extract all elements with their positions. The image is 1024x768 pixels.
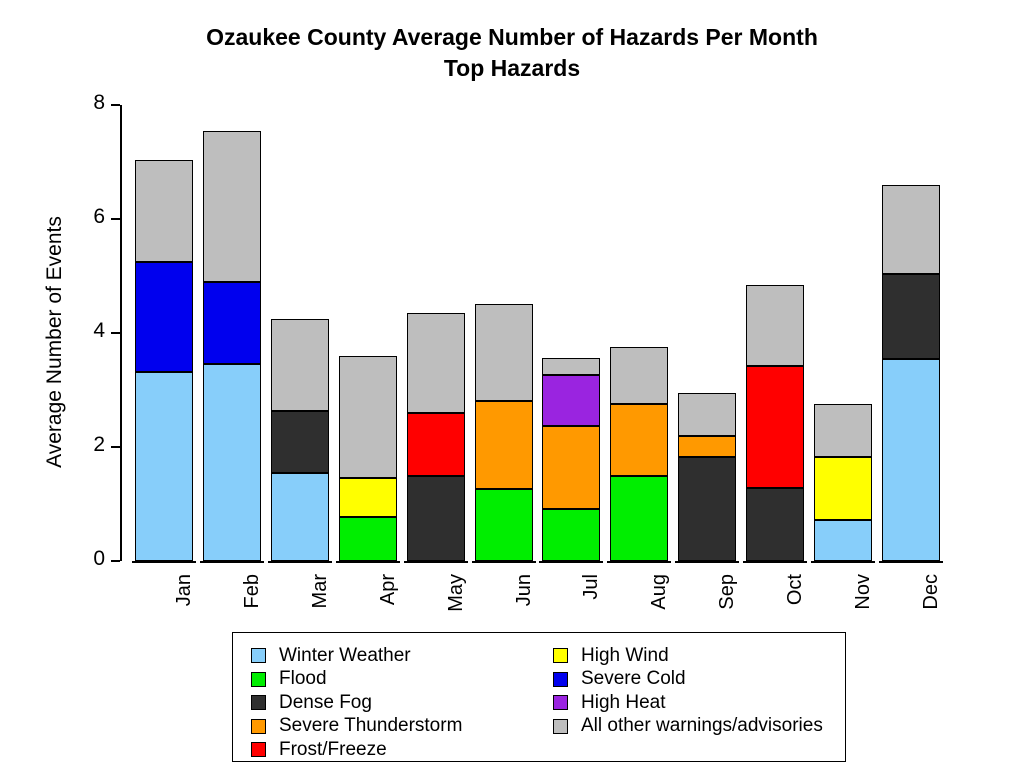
legend-item[interactable]: All other warnings/advisories xyxy=(553,715,823,739)
bar-segment[interactable] xyxy=(135,160,193,263)
bar-segment[interactable] xyxy=(882,185,940,274)
legend-swatch-icon xyxy=(553,719,568,734)
bar-sep[interactable] xyxy=(678,393,736,561)
x-axis-segment xyxy=(268,561,332,563)
legend-label: Frost/Freeze xyxy=(279,740,387,760)
chart-title: Ozaukee County Average Number of Hazards… xyxy=(0,22,1024,84)
legend-item[interactable]: Severe Cold xyxy=(553,668,823,692)
y-axis-tick-label: 2 xyxy=(93,434,105,456)
bar-segment[interactable] xyxy=(746,285,804,366)
bar-segment[interactable] xyxy=(339,517,397,561)
y-axis-tick-label: 8 xyxy=(93,92,105,114)
legend-item[interactable]: High Wind xyxy=(553,644,823,668)
bar-mar[interactable] xyxy=(271,319,329,561)
y-axis-tick: 2 xyxy=(111,446,120,448)
x-axis-segment xyxy=(675,561,739,563)
legend-swatch-icon xyxy=(553,672,568,687)
x-axis-tick-label: Feb xyxy=(241,574,264,608)
legend-item[interactable]: Winter Weather xyxy=(251,644,462,668)
x-axis-tick-label: Oct xyxy=(784,574,807,605)
chart-title-line1: Ozaukee County Average Number of Hazards… xyxy=(206,24,818,50)
bar-segment[interactable] xyxy=(407,313,465,413)
bar-segment[interactable] xyxy=(746,366,804,489)
chart-root: Ozaukee County Average Number of Hazards… xyxy=(0,0,1024,768)
x-axis-tick-label: Mar xyxy=(309,574,332,608)
legend-column-1: Winter WeatherFloodDense FogSevere Thund… xyxy=(251,644,462,762)
plot-area: 02468 JanFebMarAprMayJunJulAugSepOctNovD… xyxy=(120,100,950,566)
y-axis-tick: 8 xyxy=(111,104,120,106)
bar-segment[interactable] xyxy=(135,262,193,371)
x-axis-segment xyxy=(132,561,196,563)
bar-segment[interactable] xyxy=(271,473,329,561)
y-axis-title: Average Number of Events xyxy=(43,112,67,572)
legend-label: High Wind xyxy=(581,646,669,666)
legend-item[interactable]: Severe Thunderstorm xyxy=(251,715,462,739)
y-axis-tick: 6 xyxy=(111,218,120,220)
bar-aug[interactable] xyxy=(610,347,668,561)
bar-segment[interactable] xyxy=(339,356,397,479)
x-axis-tick-label: Aug xyxy=(648,574,671,610)
bar-segment[interactable] xyxy=(203,131,261,282)
bar-segment[interactable] xyxy=(475,401,533,489)
bar-segment[interactable] xyxy=(610,347,668,405)
bar-segment[interactable] xyxy=(203,364,261,561)
bar-segment[interactable] xyxy=(271,411,329,473)
bar-segment[interactable] xyxy=(475,304,533,401)
legend-label: Dense Fog xyxy=(279,693,372,713)
y-axis-tick-label: 0 xyxy=(93,548,105,570)
x-axis-tick-label: May xyxy=(445,574,468,612)
bar-segment[interactable] xyxy=(407,476,465,562)
bar-segment[interactable] xyxy=(542,375,600,426)
bar-segment[interactable] xyxy=(610,404,668,476)
legend-label: Severe Cold xyxy=(581,669,686,689)
legend-swatch-icon xyxy=(251,742,266,757)
bar-oct[interactable] xyxy=(746,285,804,561)
bar-segment[interactable] xyxy=(542,509,600,561)
bar-segment[interactable] xyxy=(407,413,465,476)
bar-segment[interactable] xyxy=(678,436,736,457)
bar-segment[interactable] xyxy=(610,476,668,561)
legend: Winter WeatherFloodDense FogSevere Thund… xyxy=(232,632,846,762)
x-axis-segment xyxy=(200,561,264,563)
bar-segment[interactable] xyxy=(814,457,872,520)
bar-segment[interactable] xyxy=(542,426,600,509)
legend-swatch-icon xyxy=(251,672,266,687)
bar-segment[interactable] xyxy=(746,488,804,561)
legend-swatch-icon xyxy=(251,648,266,663)
y-axis-line xyxy=(120,105,122,561)
legend-label: Winter Weather xyxy=(279,646,411,666)
legend-swatch-icon xyxy=(553,695,568,710)
x-axis-tick-label: Jul xyxy=(580,574,603,600)
legend-swatch-icon xyxy=(553,648,568,663)
bar-dec[interactable] xyxy=(882,185,940,561)
bar-may[interactable] xyxy=(407,313,465,561)
y-axis-tick-label: 6 xyxy=(93,206,105,228)
legend-swatch-icon xyxy=(251,695,266,710)
x-axis-segment xyxy=(539,561,603,563)
x-axis-segment xyxy=(743,561,807,563)
bar-segment[interactable] xyxy=(542,358,600,375)
bar-segment[interactable] xyxy=(475,489,533,561)
legend-label: High Heat xyxy=(581,693,666,713)
bar-segment[interactable] xyxy=(882,274,940,359)
x-axis-tick-label: Jan xyxy=(173,574,196,606)
legend-label: Severe Thunderstorm xyxy=(279,716,462,736)
bar-segment[interactable] xyxy=(678,393,736,436)
x-axis-tick-label: Apr xyxy=(377,574,400,605)
bar-segment[interactable] xyxy=(339,478,397,517)
legend-label: Flood xyxy=(279,669,327,689)
legend-swatch-icon xyxy=(251,719,266,734)
legend-item[interactable]: Frost/Freeze xyxy=(251,738,462,762)
bar-segment[interactable] xyxy=(678,457,736,561)
bar-jun[interactable] xyxy=(475,304,533,561)
x-axis-tick-label: Dec xyxy=(920,574,943,610)
x-axis-segment xyxy=(607,561,671,563)
bar-segment[interactable] xyxy=(882,359,940,561)
x-axis-segment xyxy=(879,561,943,563)
x-axis-segment xyxy=(336,561,400,563)
bar-feb[interactable] xyxy=(203,131,261,561)
x-axis-segment xyxy=(472,561,536,563)
chart-title-line2: Top Hazards xyxy=(0,53,1024,84)
x-axis-segment xyxy=(811,561,875,563)
bar-segment[interactable] xyxy=(814,520,872,561)
legend-column-2: High WindSevere ColdHigh HeatAll other w… xyxy=(553,644,823,738)
y-axis-tick-label: 4 xyxy=(93,320,105,342)
bar-jul[interactable] xyxy=(542,358,600,561)
x-axis-segment xyxy=(404,561,468,563)
x-axis-tick-label: Jun xyxy=(513,574,536,606)
x-axis-tick-label: Sep xyxy=(716,574,739,610)
bar-segment[interactable] xyxy=(271,319,329,411)
y-axis-tick: 4 xyxy=(111,332,120,334)
bar-jan[interactable] xyxy=(135,160,193,561)
bar-segment[interactable] xyxy=(203,282,261,365)
legend-item[interactable]: High Heat xyxy=(553,691,823,715)
legend-item[interactable]: Flood xyxy=(251,668,462,692)
x-axis-tick-label: Nov xyxy=(852,574,875,610)
y-axis-tick: 0 xyxy=(111,560,120,562)
bar-segment[interactable] xyxy=(814,404,872,457)
bar-nov[interactable] xyxy=(814,404,872,561)
legend-label: All other warnings/advisories xyxy=(581,716,823,736)
bar-segment[interactable] xyxy=(135,372,193,561)
bar-apr[interactable] xyxy=(339,356,397,561)
legend-item[interactable]: Dense Fog xyxy=(251,691,462,715)
